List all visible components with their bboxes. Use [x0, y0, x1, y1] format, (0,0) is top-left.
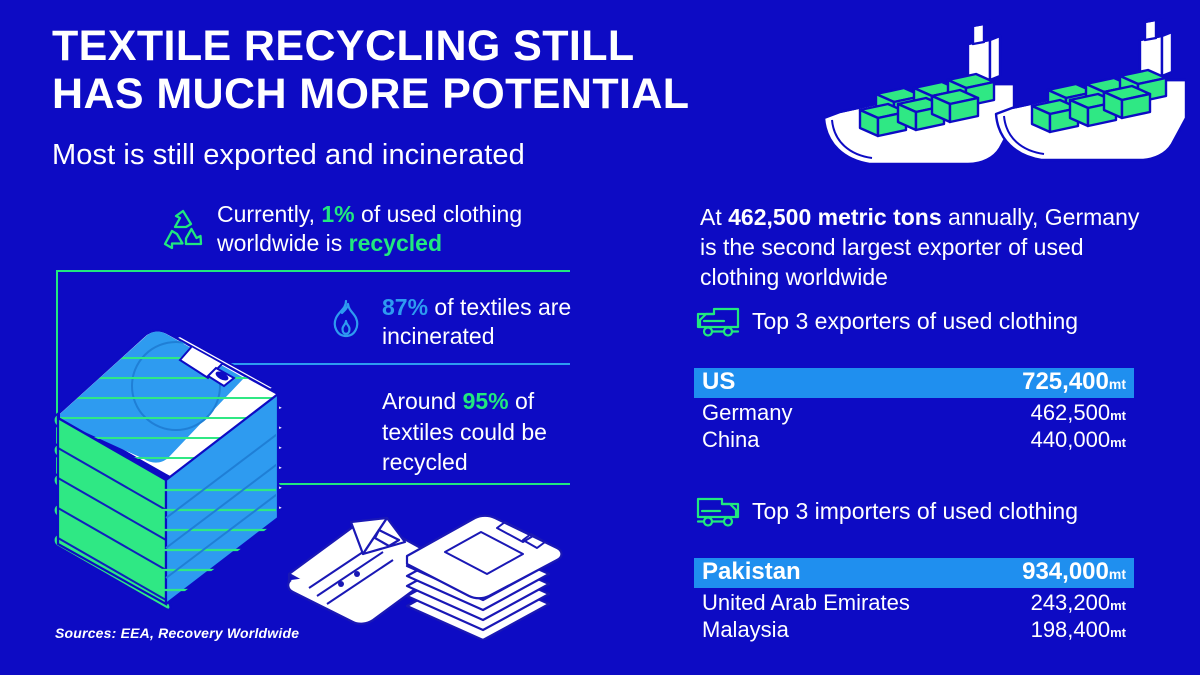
exporters-section-heading: Top 3 exporters of used clothing: [694, 303, 1164, 343]
rank-number: 243,200: [1031, 590, 1111, 615]
rank-country: China: [702, 427, 759, 453]
rank-country: US: [702, 368, 735, 396]
importers-section-heading: Top 3 importers of used clothing: [694, 493, 1164, 533]
rank-value: 243,200mt: [1031, 590, 1126, 616]
recycled-emphasis: recycled: [349, 230, 442, 256]
rank-unit: mt: [1110, 625, 1126, 640]
truck-right-icon: [694, 495, 742, 529]
garments-illustration: [283, 500, 588, 640]
importers-heading-label: Top 3 importers of used clothing: [752, 493, 1078, 529]
table-row: United Arab Emirates 243,200mt: [694, 590, 1134, 617]
rank-value: 934,000mt: [1022, 558, 1126, 586]
table-row: Pakistan 934,000mt: [694, 558, 1134, 588]
connector-line-top: [56, 270, 570, 272]
rank-value: 198,400mt: [1031, 617, 1126, 643]
recycled-value: 1%: [321, 201, 354, 227]
rank-value: 462,500mt: [1031, 400, 1126, 426]
infographic-canvas: TEXTILE RECYCLING STILL HAS MUCH MORE PO…: [0, 0, 1200, 675]
could-prefix: Around: [382, 388, 463, 414]
rank-number: 462,500: [1031, 400, 1111, 425]
rank-value: 440,000mt: [1031, 427, 1126, 453]
table-row: Germany 462,500mt: [694, 400, 1134, 427]
page-subtitle: Most is still exported and incinerated: [52, 139, 525, 172]
germany-lead-text: At 462,500 metric tons annually, Germany…: [700, 203, 1160, 293]
lead-value: 462,500 metric tons: [728, 204, 942, 230]
sources-note: Sources: EEA, Recovery Worldwide: [55, 625, 299, 641]
folded-clothes-pile-icon: [407, 516, 562, 640]
lead-prefix: At: [700, 204, 728, 230]
rank-value: 725,400mt: [1022, 368, 1126, 396]
rank-country: Germany: [702, 400, 792, 426]
could-recycle-stat: Around 95% of textiles could be recycled: [382, 386, 582, 478]
table-row: China 440,000mt: [694, 427, 1134, 454]
incinerated-value: 87%: [382, 294, 428, 320]
could-value: 95%: [463, 388, 509, 414]
title-line-1: TEXTILE RECYCLING STILL: [52, 22, 772, 70]
rank-unit: mt: [1110, 598, 1126, 613]
rank-number: 934,000: [1022, 558, 1109, 585]
table-row: Malaysia 198,400mt: [694, 617, 1134, 644]
table-row: US 725,400mt: [694, 368, 1134, 398]
exporters-table: US 725,400mt Germany 462,500mt China 440…: [694, 368, 1134, 454]
page-title: TEXTILE RECYCLING STILL HAS MUCH MORE PO…: [52, 22, 772, 118]
recycle-icon: [160, 208, 206, 252]
rank-country: Pakistan: [702, 558, 801, 586]
exporters-heading-label: Top 3 exporters of used clothing: [752, 303, 1078, 339]
truck-left-icon: [694, 305, 742, 339]
rank-number: 725,400: [1022, 368, 1109, 395]
rank-unit: mt: [1110, 435, 1126, 450]
container-ships-icon: [818, 18, 1186, 180]
could-recycle-text: Around 95% of textiles could be recycled: [382, 386, 582, 478]
incinerated-stat-text: 87% of textiles are incinerated: [382, 293, 592, 352]
rank-country: United Arab Emirates: [702, 590, 910, 616]
recycled-stat-text: Currently, 1% of used clothing worldwide…: [217, 200, 597, 258]
rank-unit: mt: [1110, 408, 1126, 423]
rank-number: 440,000: [1031, 427, 1111, 452]
rank-number: 198,400: [1031, 617, 1111, 642]
title-line-2: HAS MUCH MORE POTENTIAL: [52, 70, 772, 118]
importers-table: Pakistan 934,000mt United Arab Emirates …: [694, 558, 1134, 644]
rank-country: Malaysia: [702, 617, 789, 643]
rank-unit: mt: [1109, 566, 1126, 582]
recycled-prefix: Currently,: [217, 201, 321, 227]
rank-unit: mt: [1109, 376, 1126, 392]
